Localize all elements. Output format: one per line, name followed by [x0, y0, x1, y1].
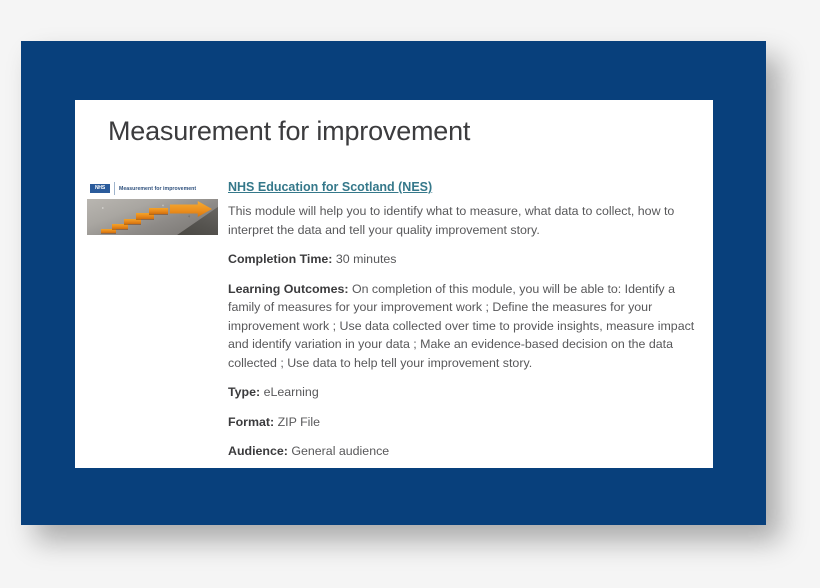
field-audience: Audience: General audience [228, 442, 701, 461]
nhs-logo-icon: NHS [90, 184, 110, 193]
field-label: Completion Time: [228, 252, 332, 266]
field-value: ZIP File [278, 415, 320, 429]
thumbnail-wrapper: NHS Measurement for improvement [87, 178, 218, 235]
card-text-column: NHS Education for Scotland (NES) This mo… [228, 178, 701, 472]
arrow-step-2 [112, 224, 128, 229]
provider-link[interactable]: NHS Education for Scotland (NES) [228, 180, 432, 194]
field-type: Type: eLearning [228, 383, 701, 402]
course-card: Measurement for improvement NHS Measurem… [75, 100, 713, 468]
arrow-step-3 [124, 219, 141, 224]
thumbnail-header: NHS Measurement for improvement [87, 178, 218, 199]
field-label: Learning Outcomes: [228, 282, 348, 296]
field-value: General audience [291, 444, 389, 458]
page-title: Measurement for improvement [108, 116, 470, 147]
thumbnail-divider [114, 182, 115, 195]
thumbnail-photo [87, 199, 218, 235]
field-value: 30 minutes [336, 252, 397, 266]
thumbnail-caption: Measurement for improvement [119, 186, 196, 192]
arrow-head-icon [170, 201, 212, 217]
field-learning-outcomes: Learning Outcomes: On completion of this… [228, 280, 701, 373]
field-completion-time: Completion Time: 30 minutes [228, 250, 701, 269]
page-root: Measurement for improvement NHS Measurem… [0, 0, 820, 588]
field-value: eLearning [264, 385, 319, 399]
staircase-shape [156, 199, 218, 235]
field-label: Format: [228, 415, 274, 429]
field-format: Format: ZIP File [228, 413, 701, 432]
arrow-step-1 [101, 229, 116, 233]
blue-frame-panel: Measurement for improvement NHS Measurem… [21, 41, 766, 525]
field-label: Type: [228, 385, 260, 399]
arrow-step-5 [149, 208, 168, 214]
course-description: This module will help you to identify wh… [228, 202, 701, 239]
field-label: Audience: [228, 444, 288, 458]
course-thumbnail-image[interactable]: NHS Measurement for improvement [87, 178, 218, 235]
card-content-row: NHS Measurement for improvement [87, 178, 701, 472]
